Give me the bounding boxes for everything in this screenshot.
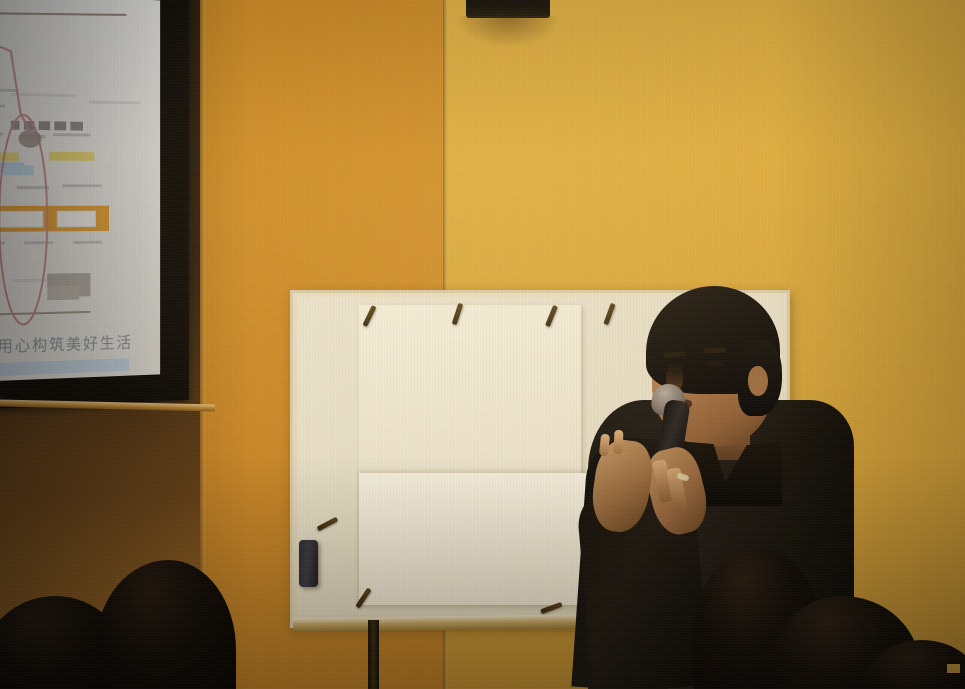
slide-text-line (0, 104, 5, 108)
slide-tagline: 用心构筑美好生活 (0, 329, 147, 357)
presenter-eye (706, 361, 723, 367)
slide-text-line (0, 132, 3, 136)
slide-text-line (89, 101, 141, 105)
slide-text-line (74, 241, 102, 244)
projection-screen-frame: 用心构筑美好生活 (0, 0, 189, 410)
slide-text-line (0, 242, 5, 245)
slide-content: 用心构筑美好生活 (0, 0, 160, 382)
slide-text-line (0, 184, 1, 187)
speaker-shadow (458, 16, 558, 46)
background-light-patch (947, 664, 960, 673)
magnet-clip-icon[interactable] (317, 517, 339, 532)
slide-bottom-rule (0, 311, 90, 316)
presenter-ear (748, 366, 768, 396)
slide-text-line (53, 133, 91, 136)
slide-top-rule (0, 12, 126, 16)
slide-image-placeholder-2 (47, 286, 79, 300)
slide-heading-glyphs (11, 121, 83, 131)
slide-text-line (24, 241, 53, 244)
slide-orange-process-band (0, 206, 109, 232)
slide-band-chip (57, 211, 96, 228)
slide-text-line (0, 88, 19, 92)
slide-text-line (13, 279, 49, 283)
whiteboard-stand-leg (368, 620, 379, 689)
slide-text-line (20, 135, 45, 138)
slide-yellow-highlight-right (49, 152, 94, 161)
slide-text-line (11, 93, 78, 97)
whiteboard-eraser-icon[interactable] (299, 540, 318, 587)
slide-band-chip (0, 211, 43, 228)
ceiling-speaker-icon (466, 0, 550, 18)
flip-chart-sheet-bottom (359, 473, 587, 605)
slide-text-line (62, 184, 101, 187)
slide-footer-band (0, 358, 129, 377)
slide-text-line (17, 186, 49, 189)
slide-blue-highlight-2 (3, 165, 34, 175)
slide-yellow-highlight-left (0, 152, 19, 161)
presenter-finger (614, 430, 624, 454)
pink-annotation-overlay (0, 0, 160, 382)
presentation-room-photo: 用心构筑美好生活 (0, 0, 965, 689)
projection-screen-surface: 用心构筑美好生活 (0, 0, 160, 382)
